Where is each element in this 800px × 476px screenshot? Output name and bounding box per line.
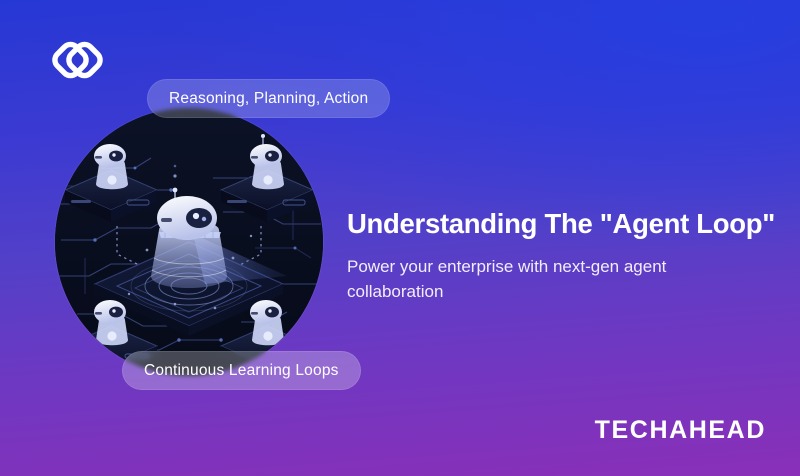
isometric-agent-network-illustration bbox=[55, 108, 323, 376]
promo-banner: Reasoning, Planning, Action Continuous L… bbox=[0, 0, 800, 476]
pill-continuous-learning-loops: Continuous Learning Loops bbox=[122, 351, 361, 390]
techahead-wordmark: TECHAHEAD bbox=[595, 416, 766, 445]
subheadline: Power your enterprise with next-gen agen… bbox=[347, 255, 747, 304]
interlocking-links-logo-icon[interactable] bbox=[48, 34, 106, 86]
pill-reasoning-planning-action: Reasoning, Planning, Action bbox=[147, 79, 390, 118]
page-title: Understanding The "Agent Loop" bbox=[347, 208, 777, 240]
